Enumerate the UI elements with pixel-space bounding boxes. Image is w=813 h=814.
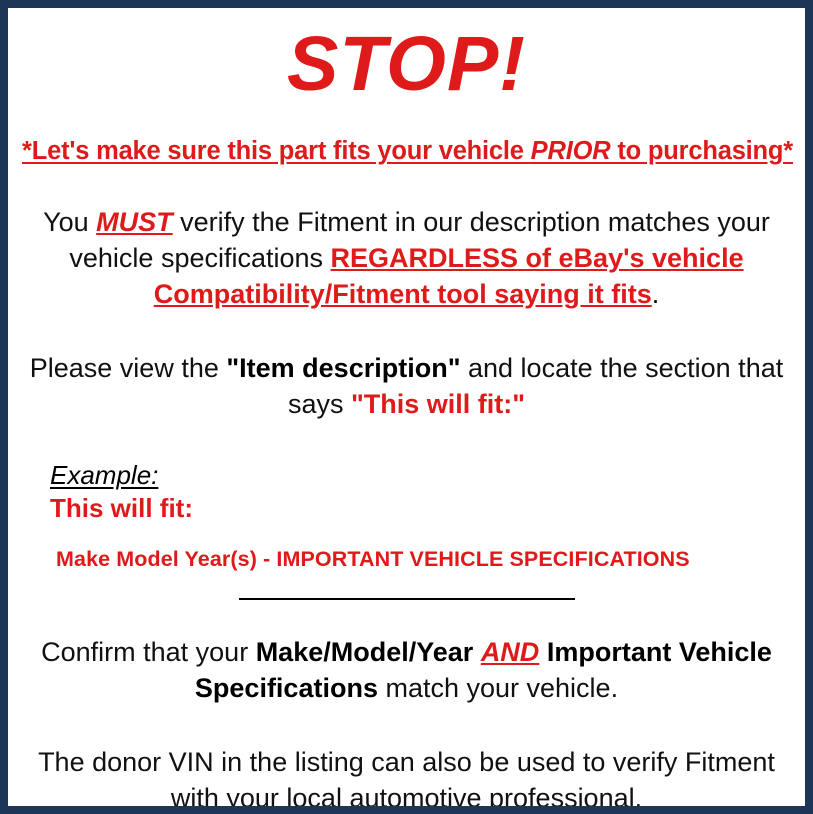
subtitle-emphasis: PRIOR (531, 137, 611, 165)
subtitle-banner: *Let's make sure this part fits your veh… (22, 137, 791, 166)
and-emphasis: AND (481, 637, 540, 667)
divider-wrapper (22, 598, 791, 600)
example-fit-header: This will fit: (50, 492, 791, 524)
page-title: STOP! (22, 26, 791, 103)
subtitle-prefix: *Let's make sure this part fits your veh… (22, 137, 531, 165)
p4-space-1 (473, 637, 481, 667)
item-description-emphasis: "Item description" (226, 353, 460, 383)
paragraph-donor-vin: The donor VIN in the listing can also be… (22, 744, 791, 814)
example-spec-line: Make Model Year(s) - IMPORTANT VEHICLE S… (50, 546, 791, 572)
notice-content: STOP! *Let's make sure this part fits yo… (8, 26, 805, 814)
make-model-year-emphasis: Make/Model/Year (256, 637, 474, 667)
section-divider (239, 598, 575, 600)
example-section: Example: This will fit: Make Model Year(… (22, 460, 791, 572)
p4-segment-1: Confirm that your (41, 637, 256, 667)
p4-space-2 (539, 637, 547, 667)
p4-segment-2: match your vehicle. (378, 673, 618, 703)
paragraph-item-description: Please view the "Item description" and l… (22, 350, 791, 422)
example-label-row: Example: (50, 460, 791, 490)
fitment-notice-card: STOP! *Let's make sure this part fits yo… (0, 0, 813, 814)
example-label: Example: (50, 460, 158, 490)
this-will-fit-emphasis: "This will fit:" (351, 389, 525, 419)
p1-segment-1: You (43, 207, 96, 237)
paragraph-confirm: Confirm that your Make/Model/Year AND Im… (22, 634, 791, 706)
p2-segment-1: Please view the (30, 353, 227, 383)
paragraph-must-verify: You MUST verify the Fitment in our descr… (22, 204, 791, 312)
p1-period: . (652, 279, 660, 309)
subtitle-suffix: to purchasing* (610, 137, 793, 165)
must-emphasis: MUST (96, 207, 173, 237)
